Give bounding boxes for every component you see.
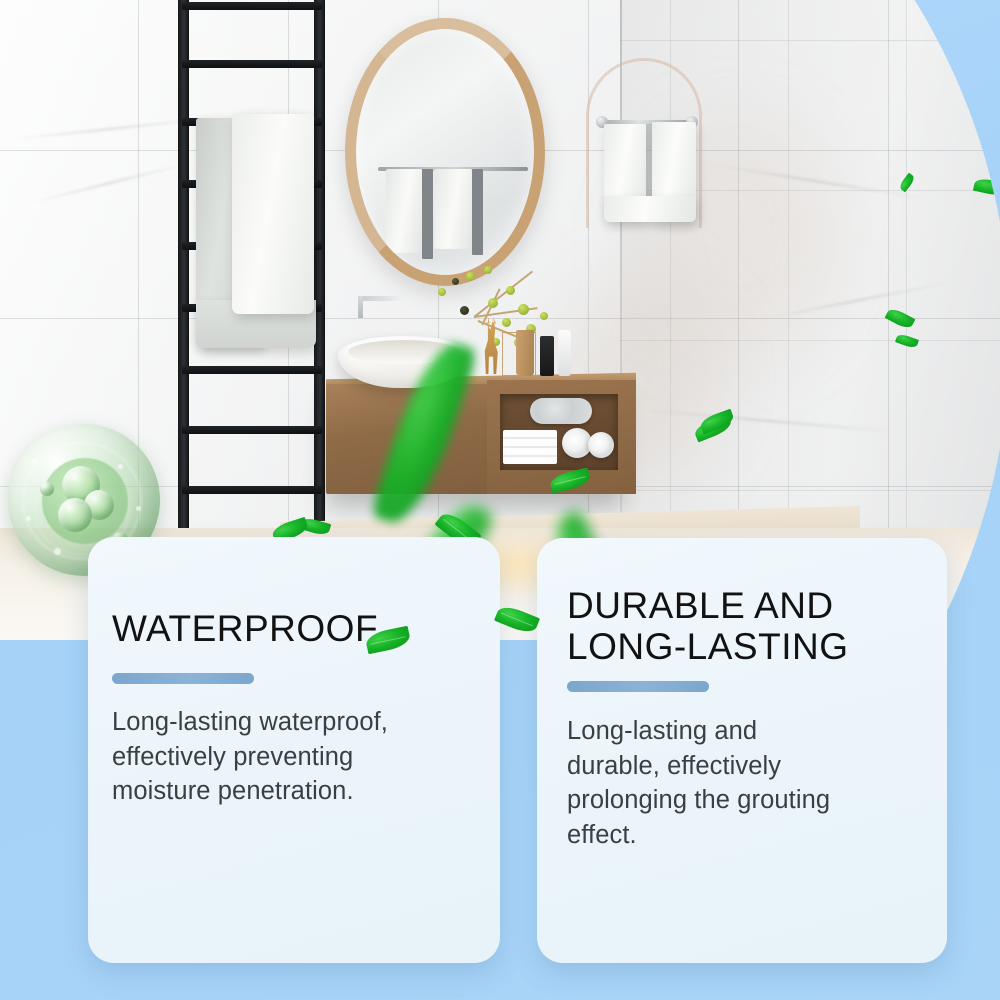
wooden-vase bbox=[516, 330, 534, 376]
ladder-rung bbox=[182, 60, 322, 68]
gel-sparkle bbox=[26, 516, 31, 521]
gel-sparkle bbox=[118, 464, 123, 469]
gel-sparkle bbox=[136, 506, 141, 511]
gel-inner-bubble bbox=[58, 498, 92, 532]
branch-berry bbox=[540, 312, 548, 320]
card-title: DURABLE AND LONG-LASTING bbox=[567, 586, 849, 667]
ladder-rung bbox=[182, 2, 322, 10]
faucet-spout bbox=[360, 296, 402, 301]
gel-sparkle bbox=[54, 548, 61, 555]
card-title: WATERPROOF bbox=[112, 609, 378, 650]
poster-canvas: WATERPROOF Long-lasting waterproof, effe… bbox=[0, 0, 1000, 1000]
branch-berry bbox=[506, 286, 515, 295]
gel-sparkle bbox=[32, 458, 38, 464]
branch-berry bbox=[460, 306, 469, 315]
branch-berry bbox=[518, 304, 529, 315]
ladder-rail-left bbox=[178, 0, 189, 554]
rolled-towel bbox=[588, 432, 614, 458]
ladder-rung bbox=[182, 426, 322, 434]
feature-card-durable[interactable]: DURABLE AND LONG-LASTING Long-lasting an… bbox=[537, 538, 947, 963]
wall-towel bbox=[604, 196, 696, 222]
folded-towels bbox=[503, 430, 557, 464]
branch-berry bbox=[452, 278, 459, 285]
faucet-stem bbox=[358, 296, 363, 318]
leaf-vein bbox=[501, 613, 533, 627]
branch-berry bbox=[488, 298, 498, 308]
black-bottle bbox=[540, 336, 554, 376]
olive-branch bbox=[430, 220, 550, 340]
ladder-towel-white bbox=[232, 114, 314, 314]
ladder-rung bbox=[182, 366, 322, 374]
card-accent-bar bbox=[567, 681, 709, 692]
rolled-towel bbox=[530, 398, 592, 424]
branch-berry bbox=[502, 318, 511, 327]
branch-berry bbox=[484, 266, 492, 274]
ladder-rung bbox=[182, 486, 322, 494]
ladder-rail-right bbox=[314, 0, 325, 554]
leaf-vein bbox=[554, 476, 585, 485]
card-body: Long-lasting waterproof, effectively pre… bbox=[112, 705, 472, 809]
feature-card-waterproof[interactable]: WATERPROOF Long-lasting waterproof, effe… bbox=[88, 537, 500, 963]
card-body: Long-lasting and durable, effectively pr… bbox=[567, 714, 919, 853]
gel-inner-bubble bbox=[40, 482, 54, 496]
branch-berry bbox=[438, 288, 446, 296]
card-accent-bar bbox=[112, 673, 254, 684]
branch-berry bbox=[466, 272, 475, 281]
leaf-vein bbox=[371, 636, 406, 644]
white-bottle bbox=[558, 330, 571, 376]
